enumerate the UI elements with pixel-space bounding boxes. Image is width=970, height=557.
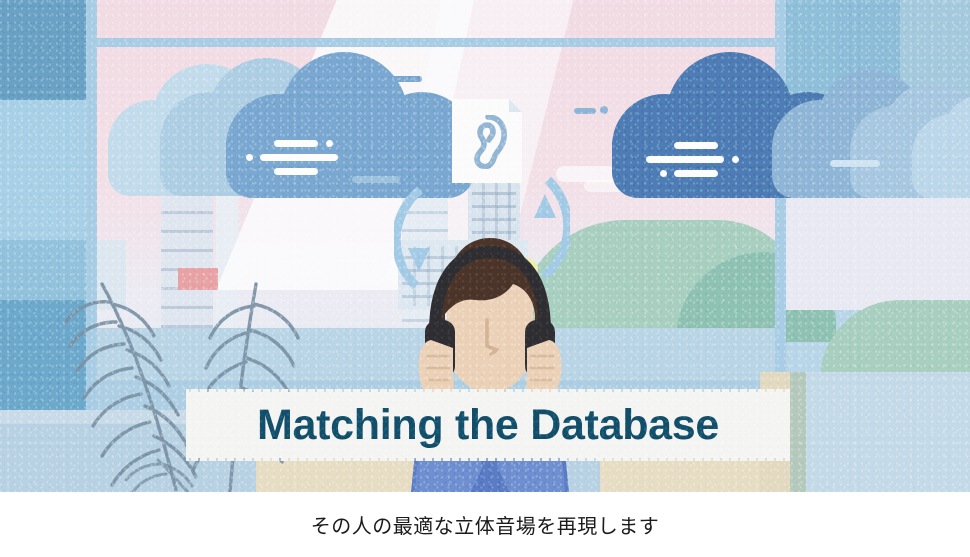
title-banner: Matching the Database [186, 392, 790, 458]
caption-bar: その人の最適な立体音場を再現します [0, 492, 970, 557]
decor-dash-right [574, 108, 596, 114]
decor-dot-right [600, 106, 608, 114]
window-mullion-right [775, 0, 786, 420]
data-dot [326, 140, 333, 147]
cloud-right-data-marks [646, 142, 756, 188]
data-bar [260, 154, 338, 161]
decor-dash-right-2 [830, 160, 880, 167]
data-dot [732, 156, 739, 163]
video-title: Matching the Database [186, 392, 790, 458]
outdoor-right-hill [820, 300, 970, 380]
document-with-ear-icon [452, 99, 522, 183]
ear-icon [468, 115, 508, 169]
caption-text: その人の最適な立体音場を再現します [311, 510, 660, 539]
data-bar [274, 168, 318, 175]
decor-dot-left [372, 74, 380, 82]
video-frame[interactable]: Matching the Database [0, 0, 970, 492]
screenshot-root: Matching the Database その人の最適な立体音場を再現します [0, 0, 970, 557]
data-dot [660, 170, 667, 177]
desk-block-far-right [806, 372, 970, 492]
cloud-left-data-marks [246, 140, 356, 186]
arrow-head-up [534, 194, 556, 218]
data-bar [274, 140, 318, 147]
decor-dash-left-2 [352, 176, 400, 183]
decor-dash-left [386, 76, 422, 82]
data-bar [646, 156, 724, 163]
data-dot [246, 154, 253, 161]
data-bar [674, 170, 718, 177]
window-mullion-top [86, 38, 786, 47]
data-bar [674, 142, 718, 149]
